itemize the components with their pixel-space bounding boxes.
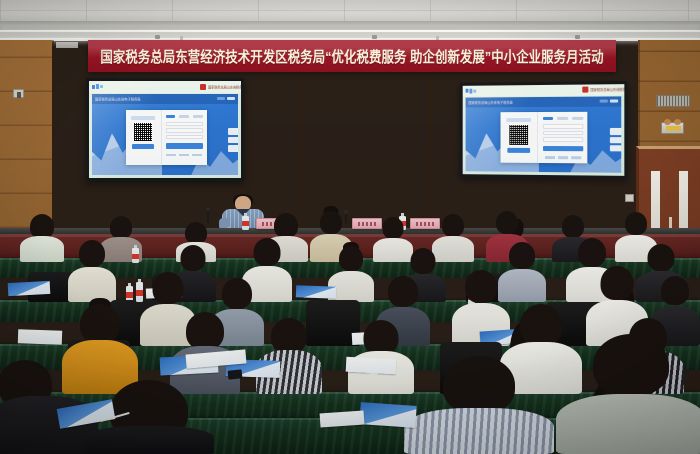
side-tab-strip[interactable] xyxy=(228,128,238,152)
gov-header: 国家税务总局山东省税务局 xyxy=(200,84,238,90)
brochure[interactable] xyxy=(359,402,416,428)
event-banner: 国家税务总局东营经济技术开发区税务局“优化税费服务 助企创新发展”中小企业服务月… xyxy=(88,40,616,72)
attendee-head xyxy=(411,248,436,274)
water-bottle[interactable] xyxy=(132,248,139,263)
screen-body: 国家税务总局山东省电子税务局 xyxy=(92,94,238,175)
username-field[interactable] xyxy=(166,122,204,127)
captcha-field[interactable] xyxy=(543,137,583,142)
attendee-head xyxy=(80,304,120,344)
screen-body: 国家税务总局山东省电子税务局 xyxy=(466,96,621,173)
password-field[interactable] xyxy=(543,131,583,136)
wall-switch-plate[interactable] xyxy=(13,89,24,98)
qr-label xyxy=(131,116,155,120)
brochure[interactable] xyxy=(8,281,51,296)
ceiling-fitting xyxy=(372,35,377,39)
attendee-head xyxy=(339,246,363,271)
brochure[interactable] xyxy=(296,285,336,298)
attendee-head xyxy=(648,244,675,271)
ceiling xyxy=(0,0,700,22)
attendee-torso xyxy=(20,236,64,262)
screen-content: 国家税务总局山东省税务局 国家税务总局山东省电子税务局 xyxy=(463,84,625,176)
attendee-head xyxy=(578,238,606,267)
emergency-exit-light xyxy=(661,122,684,134)
window-title: 国家税务总局山东省电子税务局 xyxy=(469,99,513,104)
login-footer-links[interactable] xyxy=(543,156,583,159)
attendee-head xyxy=(181,245,206,271)
gov-header-text: 国家税务总局山东省税务局 xyxy=(590,87,627,92)
username-field[interactable] xyxy=(543,124,583,129)
attendee-head xyxy=(271,318,307,354)
qr-refresh-button[interactable] xyxy=(507,148,530,153)
national-emblem-icon xyxy=(582,87,588,93)
window-buttons[interactable] xyxy=(599,100,618,103)
window-title: 国家税务总局山东省电子税务局 xyxy=(95,96,141,101)
attendee-torso xyxy=(84,426,214,454)
water-bottle[interactable] xyxy=(242,216,249,230)
attendee-head xyxy=(153,272,184,304)
qr-login-pane xyxy=(501,112,539,163)
attendee xyxy=(256,318,322,394)
credential-login-pane xyxy=(538,112,587,164)
login-dialog xyxy=(501,112,588,164)
attendee-head xyxy=(79,240,105,267)
login-button[interactable] xyxy=(543,146,583,152)
qr-code[interactable] xyxy=(508,124,529,146)
attendee-head xyxy=(593,334,669,396)
water-bottle[interactable] xyxy=(136,282,143,302)
conference-room-photo: 国家税务总局东营经济技术开发区税务局“优化税费服务 助企创新发展”中小企业服务月… xyxy=(0,0,700,454)
attendee-head xyxy=(509,242,535,269)
attendee-head xyxy=(185,222,207,244)
attendee-head xyxy=(496,211,518,234)
attendee-head xyxy=(186,312,224,350)
attendee-head xyxy=(110,216,132,239)
attendee xyxy=(68,240,116,302)
document[interactable] xyxy=(346,357,397,375)
attendee-head xyxy=(383,217,404,239)
air-vent xyxy=(656,95,690,107)
login-footer-links[interactable] xyxy=(166,154,204,157)
qr-refresh-button[interactable] xyxy=(132,144,154,149)
screen-topbar: 国家税务总局山东省税务局 xyxy=(463,84,625,96)
smartphone[interactable] xyxy=(228,369,243,379)
attendee-head xyxy=(254,238,281,266)
projection-screen-left[interactable]: 国家税务总局山东省税务局 国家税务总局山东省电子税务局 xyxy=(86,78,244,181)
login-dialog xyxy=(126,110,208,165)
portal-logo-icon xyxy=(466,89,477,94)
qr-label xyxy=(506,118,531,122)
attendee-head xyxy=(320,211,342,234)
login-tabs[interactable] xyxy=(543,117,583,120)
screen-window-titlebar: 国家税务总局山东省电子税务局 xyxy=(92,94,238,105)
attendee-head xyxy=(274,213,298,238)
attendee-head xyxy=(562,215,584,238)
wall-outlet-plate[interactable] xyxy=(625,194,634,202)
screen-topbar: 国家税务总局山东省税务局 xyxy=(89,81,241,93)
national-emblem-icon xyxy=(200,84,206,90)
screen-content: 国家税务总局山东省税务局 国家税务总局山东省电子税务局 xyxy=(89,81,241,178)
projection-screen-right[interactable]: 国家税务总局山东省税务局 国家税务总局山东省电子税务局 xyxy=(460,81,628,179)
qr-code[interactable] xyxy=(133,122,153,142)
ceiling-fitting xyxy=(155,35,160,39)
attendee xyxy=(556,334,700,454)
attendee-head xyxy=(443,356,515,414)
screen-window-titlebar: 国家税务总局山东省电子税务局 xyxy=(466,96,621,107)
attendee-torso xyxy=(556,394,700,454)
side-tab-strip[interactable] xyxy=(610,128,621,151)
password-field[interactable] xyxy=(166,128,204,133)
attendee-head xyxy=(222,278,252,309)
credential-login-pane xyxy=(162,110,208,165)
login-button[interactable] xyxy=(166,143,204,149)
window-buttons[interactable] xyxy=(217,97,235,100)
gov-header-text: 国家税务总局山东省税务局 xyxy=(208,84,244,89)
document[interactable] xyxy=(18,329,62,345)
attendee-torso xyxy=(68,267,116,302)
captcha-field[interactable] xyxy=(166,135,204,140)
attendee xyxy=(404,356,554,454)
attendee-head xyxy=(625,212,647,235)
ceiling-fitting xyxy=(575,35,580,39)
attendee-head xyxy=(465,270,497,303)
attendee-head xyxy=(388,276,418,307)
attendee-head xyxy=(661,276,689,305)
attendee-head xyxy=(442,214,464,237)
portal-logo-icon xyxy=(92,84,103,89)
gov-header: 国家税务总局山东省税务局 xyxy=(582,87,621,93)
qr-login-pane xyxy=(126,110,162,165)
attendee-head xyxy=(364,320,399,355)
attendee xyxy=(20,214,64,262)
login-tabs[interactable] xyxy=(166,115,204,118)
attendee-torso xyxy=(404,408,554,454)
attendee-head xyxy=(601,266,634,300)
banner-text: 国家税务总局东营经济技术开发区税务局“优化税费服务 助企创新发展”中小企业服务月… xyxy=(100,45,603,66)
